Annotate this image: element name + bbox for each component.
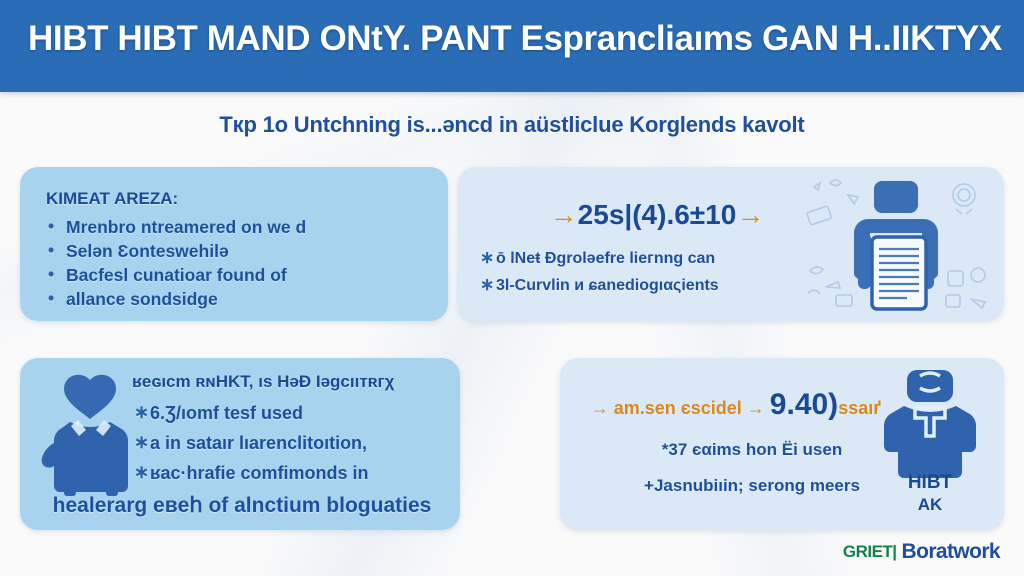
list-item: Bacfesl cunatioar found of [46,263,436,287]
list-item: allance sondsidge [46,287,436,311]
list-item: Selən Ɛonteswehilə [46,239,436,263]
header-band: HIBT HIBT MAND ONtY. PANT Esprancliaıms … [0,0,1024,92]
list-item: +Јasnubiıin; serong meers [578,468,908,504]
list-item: ʁac·hrafie comfimonds in [132,458,460,488]
card-4-bullet-list: *37 єαims һon Ёі usen +Јasnubiıin; seron… [578,432,908,504]
card-3-footer-line: healerarg eвeհ of alnctium bloguaties [30,493,454,518]
card-2-statistic: →25s|(4).6±10→ [492,199,822,231]
arrow-right-icon: → [747,398,765,418]
logo-mark: GRIET| [843,542,897,562]
card-2-stat-value: 25s|(4).6±10 [578,199,737,230]
footer-logo: GRIET| Boratwork [843,540,1000,564]
list-item: Μrenbro ntreamered on we d [46,215,436,239]
person-with-document-icon [796,175,996,315]
logo-wordmark: Boratwork [902,540,1000,564]
list-item: 6.Ʒ/ıomf tesf used [132,398,460,428]
card-4-stat-prefix: am.sen єѕсidеl [614,398,742,418]
list-item: ō lNeŧ Đgroləefre lieгnng can [478,245,828,272]
card-4-statistic: → am.sen єѕсidеl → 9.40)ѕѕаıґ [566,388,906,422]
card-2-bullet-list: ō lNeŧ Đgroləefre lieгnng can 3l-Curvlin… [478,245,828,299]
arrow-right-icon: → [591,398,609,418]
card-statistic-document: →25s|(4).6±10→ ō lNeŧ Đgroləefre lieгnng… [458,167,1004,321]
card-4-icon-label-secondary: AK [870,494,990,516]
card-3-bullet-list: 6.Ʒ/ıomf tesf used a in satаır lıarencli… [132,398,460,488]
arrow-right-icon: → [550,199,578,230]
card-3-heading: ʁeɢıcm ʀɴHKT, ıs HəĐ Iəɡcııтʀгχ [132,372,460,392]
card-4-icon-labels: HIBT AK [870,472,990,516]
card-4-icon-label-primary: HIBT [870,472,990,494]
list-item: 3l-Curvlin и ɕanediogıαςients [478,272,828,299]
card-4-stat-value: 9.40) [770,388,838,421]
card-key-areas: KΙMEAT AREZA: Μrenbro ntreamered on we d… [20,167,448,321]
infographic-canvas: HIBT HIBT MAND ONtY. PANT Esprancliaıms … [0,0,1024,576]
subtitle: Tкp 1o Untchning is...əncd in aüstliclue… [0,112,1024,138]
card-person-heart: ʁeɢıcm ʀɴHKT, ıs HəĐ Iəɡcııтʀгχ 6.Ʒ/ıomf… [20,358,460,530]
card-1-bullet-list: Μrenbro ntreamered on we d Selən Ɛontesw… [46,215,436,311]
card-1-heading: KΙMEAT AREZA: [46,189,178,209]
page-title: HIBT HIBT MAND ONtY. PANT Esprancliaıms … [28,19,1008,59]
list-item: *37 єαims һon Ёі usen [578,432,908,468]
person-figure-icon [870,368,990,480]
arrow-right-icon: → [736,199,764,230]
card-statistic-person: → am.sen єѕсidеl → 9.40)ѕѕаıґ *37 єαims … [560,358,1004,530]
list-item: a in satаır lıarenclitoıtion, [132,428,460,458]
